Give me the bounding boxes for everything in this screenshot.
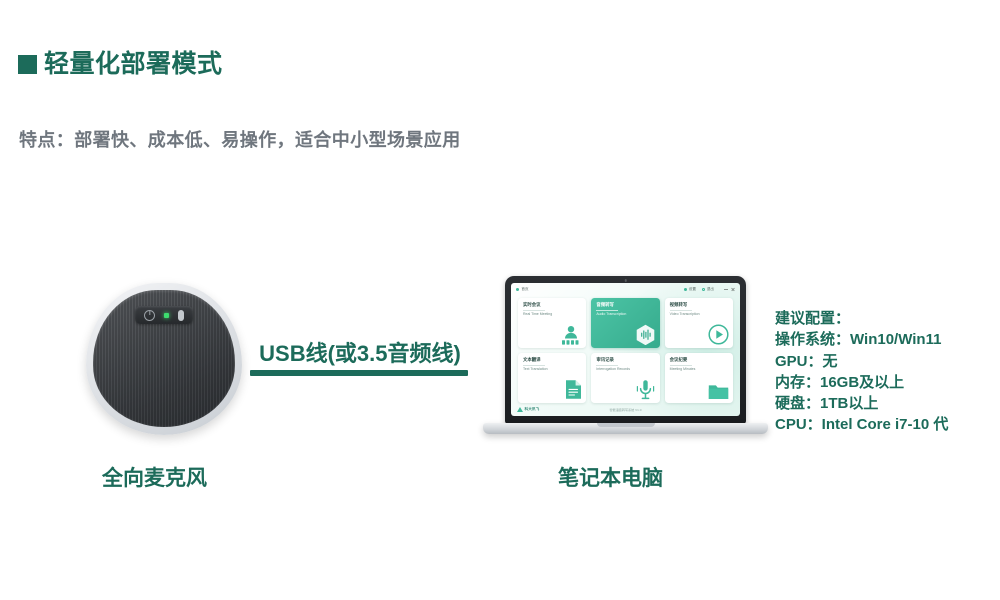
app-footer: 科大讯飞 智能语音转写系统 V1.0 — [511, 403, 740, 416]
cable-line-graphic — [250, 370, 468, 376]
home-icon — [516, 288, 519, 291]
page-subtitle: 特点：部署快、成本低、易操作，适合中小型场景应用 — [19, 126, 461, 152]
config-os: 操作系统：Win10/Win11 — [775, 329, 948, 350]
minimize-icon[interactable] — [724, 289, 728, 290]
laptop-notch — [597, 423, 655, 427]
brand-mark-icon — [517, 407, 523, 412]
mic-grille-surface — [93, 290, 235, 427]
microphone-icon — [178, 310, 184, 321]
card-title-cn: 视频转写 — [670, 303, 728, 307]
card-title-cn: 会议纪要 — [670, 358, 728, 362]
topbar-settings-item[interactable]: 设置 — [684, 287, 696, 292]
webcam-icon — [624, 279, 627, 282]
config-disk: 硬盘：1TB以上 — [775, 393, 948, 414]
app-logo-text: 科大讯飞 — [525, 407, 540, 412]
topbar-exit-label: 退出 — [707, 287, 714, 292]
card-title-en: Audio Transcription — [596, 313, 654, 317]
card-title-en: Text Translation — [523, 368, 581, 372]
window-controls — [724, 288, 735, 292]
document-icon — [560, 378, 582, 400]
card-divider — [670, 310, 692, 311]
app-topbar: 首页 设置 退出 — [511, 283, 740, 296]
card-meeting-minutes[interactable]: 会议纪要 Meeting Minutes — [665, 353, 733, 403]
close-icon[interactable] — [731, 288, 735, 292]
card-title-cn: 文本翻译 — [523, 358, 581, 362]
topbar-right-group: 设置 退出 — [684, 287, 735, 292]
topbar-exit-item[interactable]: 退出 — [702, 287, 714, 292]
config-cpu: CPU：Intel Core i7-10 代 — [775, 414, 948, 435]
microphone-caption: 全向麦克风 — [102, 462, 207, 492]
laptop-caption: 笔记本电脑 — [558, 462, 663, 492]
presenter-audience-icon — [560, 323, 582, 345]
page-title: 轻量化部署模式 — [44, 52, 223, 77]
card-title-cn: 审讯记录 — [596, 358, 654, 362]
topbar-settings-label: 设置 — [689, 287, 696, 292]
card-divider — [523, 365, 545, 366]
card-text-translation[interactable]: 文本翻译 Text Translation — [518, 353, 586, 403]
laptop-base — [483, 423, 768, 434]
card-title-en: Real Time Meeting — [523, 313, 581, 317]
page-heading: 轻量化部署模式 — [18, 52, 223, 77]
app-feature-grid: 实时会议 Real Time Meeting — [511, 296, 740, 403]
gear-icon — [684, 288, 687, 291]
mic-outer-shell — [86, 283, 242, 435]
config-gpu: GPU：无 — [775, 351, 948, 372]
app-footer-text: 智能语音转写系统 V1.0 — [610, 407, 642, 412]
power-icon — [144, 310, 155, 321]
status-led-icon — [164, 313, 169, 318]
card-divider — [670, 365, 692, 366]
card-divider — [596, 310, 618, 311]
topbar-left-label: 首页 — [521, 287, 528, 292]
card-title-en: Video Transcription — [670, 313, 728, 317]
card-title-cn: 音频转写 — [596, 303, 654, 307]
play-circle-icon — [707, 323, 729, 345]
recommended-config-block: 建议配置： 操作系统：Win10/Win11 GPU：无 内存：16GB及以上 … — [775, 308, 948, 436]
audio-waveform-icon — [634, 323, 656, 345]
cable-label: USB线(或3.5音频线) — [250, 336, 470, 368]
laptop-screen: 首页 设置 退出 — [511, 283, 740, 416]
card-divider — [596, 365, 618, 366]
microphone-icon — [634, 378, 656, 400]
folder-icon — [707, 378, 729, 400]
card-real-time-meeting[interactable]: 实时会议 Real Time Meeting — [518, 298, 586, 348]
exit-icon — [702, 288, 705, 291]
card-title-en: Interrogation Records — [596, 368, 654, 372]
omnidirectional-microphone-device — [86, 283, 242, 435]
laptop-lid: 首页 设置 退出 — [505, 276, 746, 424]
config-memory: 内存：16GB及以上 — [775, 372, 948, 393]
topbar-home-item[interactable]: 首页 — [516, 287, 529, 292]
card-audio-transcription[interactable]: 音频转写 Audio Transcription — [591, 298, 659, 348]
config-title: 建议配置： — [775, 308, 948, 329]
card-divider — [523, 310, 545, 311]
card-video-transcription[interactable]: 视频转写 Video Transcription — [665, 298, 733, 348]
laptop-device: 首页 设置 退出 — [483, 276, 768, 444]
square-bullet-icon — [18, 55, 37, 74]
card-interrogation-records[interactable]: 审讯记录 Interrogation Records — [591, 353, 659, 403]
card-title-en: Meeting Minutes — [670, 368, 728, 372]
mic-control-panel — [135, 306, 193, 324]
card-title-cn: 实时会议 — [523, 303, 581, 307]
app-logo: 科大讯飞 — [517, 407, 539, 412]
